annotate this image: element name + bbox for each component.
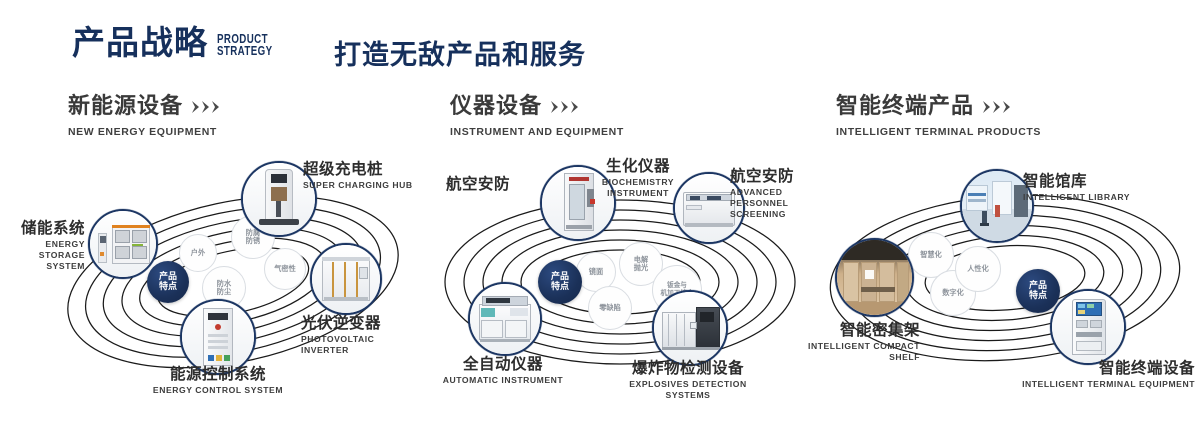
page-title-en-line2: STRATEGY <box>217 45 272 57</box>
node-label-energy-storage-system: 储能系统 ENERGY STORAGE SYSTEM <box>0 220 85 272</box>
core-badge-line1: 产品 <box>1029 281 1047 291</box>
node-label-intelligent-library: 智能馆库 INTELLIGENT LIBRARY <box>1023 173 1130 203</box>
node-label-energy-control-system: 能源控制系统 ENERGY CONTROL SYSTEM <box>133 366 303 396</box>
core-badge-line2: 特点 <box>551 282 569 292</box>
page-title: 产品战略 PRODUCT STRATEGY <box>72 26 288 59</box>
node-label-cn: 航空安防 <box>400 176 510 193</box>
section-heading-intelligent: 智能终端产品 INTELLIGENT TERMINAL PRODUCTS <box>836 96 1041 138</box>
page-title-cn: 产品战略 <box>72 26 208 59</box>
node-label-intelligent-compact-shelf: 智能密集架 INTELLIGENT COMPACT SHELF <box>760 322 920 363</box>
control-cabinet-icon <box>182 301 254 373</box>
core-badge-line2: 特点 <box>1029 291 1047 301</box>
core-badge: 产品 特点 <box>538 260 582 304</box>
node-label-cn: 全自动仪器 <box>423 356 583 373</box>
page-subtitle: 打造无敌产品和服务 <box>334 33 586 72</box>
node-label-en: ADVANCED PERSONNEL SCREENING <box>730 187 810 219</box>
node-label-en: PHOTOVOLTAIC INVERTER <box>301 334 425 355</box>
product-strategy-infographic: 产品战略 PRODUCT STRATEGY 打造无敌产品和服务 新能源设备 NE… <box>0 0 1200 422</box>
node-label-en: ENERGY CONTROL SYSTEM <box>133 385 303 396</box>
node-photovoltaic-inverter[interactable] <box>310 243 382 315</box>
node-label-cn: 光伏逆变器 <box>301 315 425 332</box>
node-label-intelligent-terminal-equipment: 智能终端设备 INTELLIGENT TERMINAL EQUIPMENT <box>965 360 1195 390</box>
cluster-new-energy: 户外 防腐 防锈 防水 防尘 气密性 产品 特点 <box>55 160 425 400</box>
node-label-cn: 超级充电桩 <box>303 161 413 178</box>
feature-bubble-label: 镜面 <box>589 268 603 276</box>
node-label-photovoltaic-inverter: 光伏逆变器 PHOTOVOLTAIC INVERTER <box>301 315 425 356</box>
node-label-automatic-instrument: 全自动仪器 AUTOMATIC INSTRUMENT <box>423 356 583 386</box>
node-energy-control-system[interactable] <box>180 299 256 375</box>
section-heading-en: INTELLIGENT TERMINAL PRODUCTS <box>836 126 1041 138</box>
node-intelligent-terminal-equipment[interactable] <box>1050 289 1126 365</box>
section-heading-cn: 新能源设备 <box>68 96 226 118</box>
node-label-cn: 智能密集架 <box>760 322 920 339</box>
cluster-intelligent-terminal: 智慧化 数字化 人性化 产品 特点 <box>815 160 1195 400</box>
node-label-en: AUTOMATIC INSTRUMENT <box>423 375 583 386</box>
node-explosives-detection[interactable] <box>652 290 728 366</box>
section-heading-cn-text: 仪器设备 <box>450 96 542 118</box>
section-heading-cn-text: 智能终端产品 <box>836 96 974 118</box>
node-label-explosives-detection: 爆炸物检测设备 EXPLOSIVES DETECTION SYSTEMS <box>608 360 768 401</box>
section-heading-cn-text: 新能源设备 <box>68 96 183 118</box>
node-label-cn: 储能系统 <box>0 220 85 237</box>
automatic-instrument-icon <box>470 284 540 354</box>
node-intelligent-compact-shelf[interactable] <box>835 238 914 317</box>
chevron-right-icon <box>192 101 226 113</box>
feature-bubble-label: 电解 抛光 <box>634 256 648 273</box>
node-label-cn: 智能终端设备 <box>965 360 1195 377</box>
feature-bubble-label: 人性化 <box>967 265 989 273</box>
feature-bubble-label: 数字化 <box>942 289 964 297</box>
node-label-aviation-security-overlay: 航空安防 <box>400 176 510 193</box>
node-label-super-charging-hub: 超级充电桩 SUPER CHARGING HUB <box>303 161 413 191</box>
explosives-detector-icon <box>654 292 726 364</box>
feature-bubble-label: 气密性 <box>274 265 296 273</box>
node-label-cn: 生化仪器 <box>578 158 698 175</box>
feature-bubble-label: 智慧化 <box>920 251 942 259</box>
compact-shelf-icon <box>837 240 912 315</box>
feature-bubble-label: 零缺陷 <box>599 304 621 312</box>
pv-inverter-cabinet-icon <box>312 245 380 313</box>
terminal-kiosk-icon <box>1052 291 1124 363</box>
node-label-en: INTELLIGENT LIBRARY <box>1023 192 1130 203</box>
feature-bubble: 气密性 <box>264 248 306 290</box>
feature-bubble: 人性化 <box>955 246 1001 292</box>
cluster-instrument: 镜面 电解 抛光 钣金与 机加工结合 零缺陷 产品 特点 <box>430 160 810 400</box>
node-label-cn: 爆炸物检测设备 <box>608 360 768 377</box>
node-label-en: INTELLIGENT COMPACT SHELF <box>760 341 920 362</box>
node-energy-storage-system[interactable] <box>88 209 158 279</box>
core-badge-line1: 产品 <box>551 272 569 282</box>
feature-bubble-label: 户外 <box>191 249 205 257</box>
node-label-en: INTELLIGENT TERMINAL EQUIPMENT <box>965 379 1195 390</box>
section-heading-cn: 智能终端产品 <box>836 96 1041 118</box>
node-label-advanced-personnel-screening: 航空安防 ADVANCED PERSONNEL SCREENING <box>730 168 810 220</box>
core-badge-line1: 产品 <box>159 272 177 282</box>
section-heading-cn: 仪器设备 <box>450 96 624 118</box>
chevron-right-icon <box>551 101 585 113</box>
core-badge-line2: 特点 <box>159 282 177 292</box>
section-heading-en: INSTRUMENT AND EQUIPMENT <box>450 126 624 138</box>
feature-bubble: 零缺陷 <box>588 286 632 330</box>
node-label-en: SUPER CHARGING HUB <box>303 180 413 191</box>
node-label-cn: 智能馆库 <box>1023 173 1130 190</box>
node-label-en: ENERGY STORAGE SYSTEM <box>0 239 85 271</box>
intelligent-library-icon <box>962 171 1032 241</box>
node-label-cn: 能源控制系统 <box>133 366 303 383</box>
section-heading-instrument: 仪器设备 INSTRUMENT AND EQUIPMENT <box>450 96 624 138</box>
energy-storage-cabinet-icon <box>90 211 156 277</box>
section-heading-en: NEW ENERGY EQUIPMENT <box>68 126 226 138</box>
feature-bubble: 户外 <box>179 234 217 272</box>
section-heading-new-energy: 新能源设备 NEW ENERGY EQUIPMENT <box>68 96 226 138</box>
chevron-right-icon <box>983 101 1017 113</box>
feature-bubble-label: 防水 防尘 <box>217 280 231 297</box>
node-automatic-instrument[interactable] <box>468 282 542 356</box>
node-label-en: EXPLOSIVES DETECTION SYSTEMS <box>608 379 768 400</box>
page-title-en: PRODUCT STRATEGY <box>217 33 272 57</box>
node-label-cn: 航空安防 <box>730 168 810 185</box>
